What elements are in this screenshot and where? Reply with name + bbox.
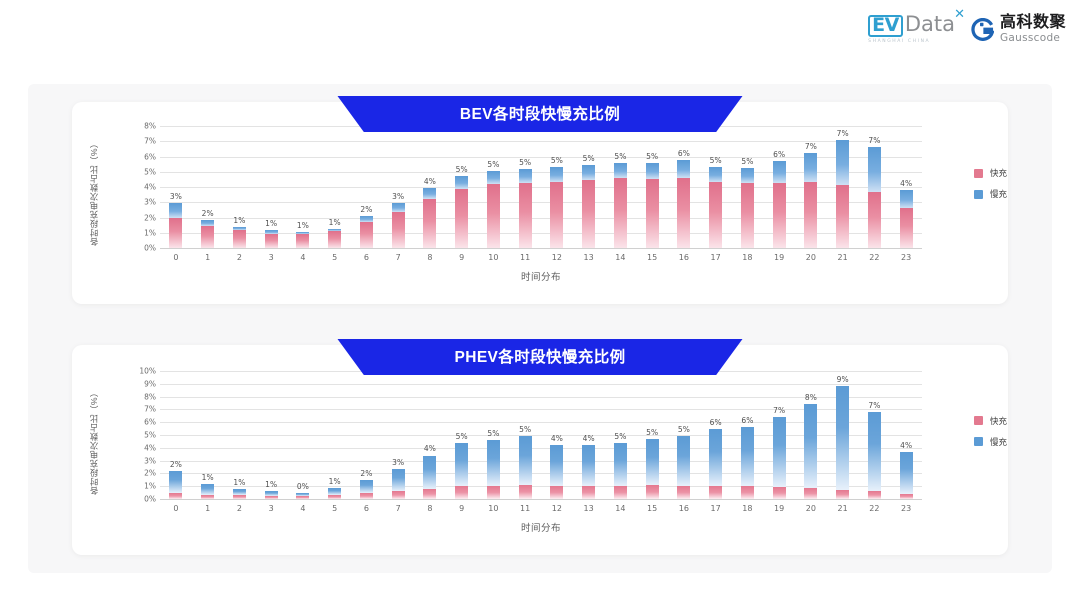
bar-segment-fast-charge[interactable] xyxy=(328,495,341,499)
legend-label-slow-charge: 慢充 xyxy=(990,436,1007,448)
bar-segment-fast-charge[interactable] xyxy=(201,495,214,499)
bar-value-label: 4% xyxy=(424,444,436,453)
bar-segment-slow-charge[interactable] xyxy=(550,167,563,181)
bar-column[interactable]: 4% xyxy=(573,371,605,499)
x-tick: 23 xyxy=(890,253,922,262)
bar-segment-slow-charge[interactable] xyxy=(360,480,373,493)
phev-plot-area: 各时段充电次数占比（%） 0%1%2%3%4%5%6%7%8%9%10%2%1%… xyxy=(72,345,1008,555)
y-tick: 5% xyxy=(144,167,156,176)
bar-segment-slow-charge[interactable] xyxy=(836,386,849,490)
y-tick: 6% xyxy=(144,152,156,161)
legend-label-fast-charge: 快充 xyxy=(990,167,1007,179)
x-tick: 11 xyxy=(509,504,541,513)
bar-stack[interactable] xyxy=(868,371,881,499)
x-tick: 0 xyxy=(160,504,192,513)
bar-value-label: 5% xyxy=(487,429,499,438)
bar-segment-slow-charge[interactable] xyxy=(392,469,405,491)
bar-value-label: 7% xyxy=(837,129,849,138)
legend-swatch-slow-charge xyxy=(974,437,983,446)
bar-segment-fast-charge[interactable] xyxy=(709,486,722,499)
bar-segment-fast-charge[interactable] xyxy=(868,192,881,248)
bar-stack[interactable] xyxy=(392,126,405,248)
bar-segment-slow-charge[interactable] xyxy=(582,165,595,180)
x-tick: 10 xyxy=(478,253,510,262)
x-tick: 0 xyxy=(160,253,192,262)
legend-item-slow-charge[interactable]: 慢充 xyxy=(974,436,1007,448)
bar-value-label: 2% xyxy=(360,469,372,478)
legend-item-fast-charge[interactable]: 快充 xyxy=(974,167,1007,179)
bev-plot-area: 各时段充电次数占比（%） 0%1%2%3%4%5%6%7%8%3%2%1%1%1… xyxy=(72,102,1008,304)
bar-value-label: 7% xyxy=(773,406,785,415)
gausscode-mark-icon xyxy=(971,18,994,41)
bar-column[interactable]: 5% xyxy=(478,371,510,499)
bar-value-label: 6% xyxy=(741,416,753,425)
bar-segment-fast-charge[interactable] xyxy=(804,488,817,499)
bar-stack[interactable] xyxy=(519,126,532,248)
bar-stack[interactable] xyxy=(487,126,500,248)
bar-stack[interactable] xyxy=(392,371,405,499)
bar-stack[interactable] xyxy=(677,126,690,248)
bar-value-label: 4% xyxy=(900,179,912,188)
bar-segment-fast-charge[interactable] xyxy=(169,218,182,249)
bar-value-label: 5% xyxy=(614,152,626,161)
bar-segment-fast-charge[interactable] xyxy=(519,183,532,248)
phev-bars: 2%1%1%1%0%1%2%3%4%5%5%5%4%4%5%5%5%6%6%7%… xyxy=(160,371,922,499)
bar-segment-fast-charge[interactable] xyxy=(677,486,690,499)
bar-column[interactable]: 1% xyxy=(224,371,256,499)
x-tick: 5 xyxy=(319,253,351,262)
bar-value-label: 1% xyxy=(265,480,277,489)
bar-stack[interactable] xyxy=(296,371,309,499)
bar-value-label: 4% xyxy=(424,177,436,186)
bev-bars: 3%2%1%1%1%1%2%3%4%5%5%5%5%5%5%5%6%5%5%6%… xyxy=(160,126,922,248)
bar-column[interactable]: 9% xyxy=(827,371,859,499)
bar-value-label: 1% xyxy=(202,473,214,482)
bar-segment-fast-charge[interactable] xyxy=(423,489,436,499)
bar-value-label: 5% xyxy=(456,432,468,441)
bar-column[interactable]: 5% xyxy=(732,126,764,248)
bar-segment-slow-charge[interactable] xyxy=(900,452,913,494)
evdata-cross-icon: ✕ xyxy=(954,7,965,22)
bar-segment-fast-charge[interactable] xyxy=(455,189,468,248)
bar-segment-fast-charge[interactable] xyxy=(233,230,246,248)
x-tick: 16 xyxy=(668,253,700,262)
y-tick: 3% xyxy=(144,198,156,207)
bar-segment-fast-charge[interactable] xyxy=(519,485,532,499)
phev-chart-block: PHEV各时段快慢充比例 各时段充电次数占比（%） 0%1%2%3%4%5%6%… xyxy=(28,327,1052,573)
bar-value-label: 0% xyxy=(297,482,309,491)
bar-stack[interactable] xyxy=(233,126,246,248)
x-tick: 20 xyxy=(795,504,827,513)
gausscode-name-en: Gausscode xyxy=(1000,33,1066,44)
bar-stack[interactable] xyxy=(741,126,754,248)
bar-column[interactable]: 8% xyxy=(795,371,827,499)
bar-segment-fast-charge[interactable] xyxy=(550,182,563,248)
bar-segment-fast-charge[interactable] xyxy=(201,226,214,248)
bar-value-label: 1% xyxy=(329,477,341,486)
legend-label-slow-charge: 慢充 xyxy=(990,188,1007,200)
x-tick: 22 xyxy=(859,253,891,262)
bar-stack[interactable] xyxy=(709,126,722,248)
y-tick: 0% xyxy=(144,244,156,253)
bar-segment-fast-charge[interactable] xyxy=(836,490,849,499)
bar-column[interactable]: 6% xyxy=(763,126,795,248)
legend-swatch-fast-charge xyxy=(974,169,983,178)
x-tick: 14 xyxy=(605,253,637,262)
bar-value-label: 2% xyxy=(202,209,214,218)
bar-segment-fast-charge[interactable] xyxy=(360,222,373,248)
bar-column[interactable]: 3% xyxy=(160,126,192,248)
bar-segment-slow-charge[interactable] xyxy=(646,163,659,178)
bar-segment-slow-charge[interactable] xyxy=(487,171,500,184)
x-axis-line xyxy=(160,248,922,249)
bar-column[interactable]: 4% xyxy=(414,371,446,499)
bar-value-label: 5% xyxy=(614,432,626,441)
bar-value-label: 9% xyxy=(837,375,849,384)
bar-value-label: 2% xyxy=(170,460,182,469)
bar-column[interactable]: 0% xyxy=(287,371,319,499)
bar-segment-slow-charge[interactable] xyxy=(455,443,468,486)
bev-y-axis-ticks: 0%1%2%3%4%5%6%7%8% xyxy=(126,126,156,248)
bar-stack[interactable] xyxy=(741,371,754,499)
bar-column[interactable]: 5% xyxy=(636,371,668,499)
bar-segment-slow-charge[interactable] xyxy=(804,153,817,182)
y-tick: 3% xyxy=(144,456,156,465)
y-tick: 7% xyxy=(144,405,156,414)
x-tick: 17 xyxy=(700,253,732,262)
bar-segment-slow-charge[interactable] xyxy=(550,445,563,486)
bar-stack[interactable] xyxy=(519,371,532,499)
bar-segment-slow-charge[interactable] xyxy=(614,443,627,487)
bar-segment-fast-charge[interactable] xyxy=(836,185,849,248)
phev-legend: 快充慢充 xyxy=(974,415,1007,448)
bar-segment-fast-charge[interactable] xyxy=(487,486,500,499)
bar-segment-slow-charge[interactable] xyxy=(582,445,595,487)
bar-segment-fast-charge[interactable] xyxy=(265,234,278,248)
phev-y-axis-ticks: 0%1%2%3%4%5%6%7%8%9%10% xyxy=(126,371,156,499)
bev-chart-card: BEV各时段快慢充比例 各时段充电次数占比（%） 0%1%2%3%4%5%6%7… xyxy=(72,102,1008,304)
bar-segment-slow-charge[interactable] xyxy=(519,436,532,485)
bar-column[interactable]: 4% xyxy=(890,126,922,248)
bar-segment-slow-charge[interactable] xyxy=(677,160,690,178)
phev-y-axis-label: 各时段充电次数占比（%） xyxy=(88,371,100,495)
bar-stack[interactable] xyxy=(360,126,373,248)
bar-column[interactable]: 5% xyxy=(478,126,510,248)
y-tick: 1% xyxy=(144,482,156,491)
phev-chart-title: PHEV各时段快慢充比例 xyxy=(454,345,625,367)
bar-column[interactable]: 1% xyxy=(319,126,351,248)
bar-segment-slow-charge[interactable] xyxy=(169,471,182,493)
bar-column[interactable]: 6% xyxy=(668,126,700,248)
bar-segment-fast-charge[interactable] xyxy=(614,486,627,499)
gausscode-logo: 高科数聚 Gausscode xyxy=(971,15,1066,44)
x-tick: 21 xyxy=(827,504,859,513)
bar-segment-fast-charge[interactable] xyxy=(646,485,659,499)
bar-stack[interactable] xyxy=(455,126,468,248)
bar-column[interactable]: 2% xyxy=(160,371,192,499)
bar-value-label: 1% xyxy=(329,218,341,227)
bar-column[interactable]: 1% xyxy=(255,371,287,499)
x-tick: 21 xyxy=(827,253,859,262)
bar-stack[interactable] xyxy=(614,126,627,248)
bar-column[interactable]: 5% xyxy=(605,371,637,499)
x-tick: 20 xyxy=(795,253,827,262)
bar-value-label: 7% xyxy=(805,142,817,151)
bar-segment-fast-charge[interactable] xyxy=(296,496,309,499)
bar-stack[interactable] xyxy=(836,126,849,248)
bar-value-label: 6% xyxy=(710,418,722,427)
bar-column[interactable]: 7% xyxy=(827,126,859,248)
bar-column[interactable]: 7% xyxy=(859,126,891,248)
bar-segment-slow-charge[interactable] xyxy=(804,404,817,488)
bar-segment-slow-charge[interactable] xyxy=(423,456,436,489)
bar-segment-slow-charge[interactable] xyxy=(868,147,881,192)
phev-chart-card: PHEV各时段快慢充比例 各时段充电次数占比（%） 0%1%2%3%4%5%6%… xyxy=(72,345,1008,555)
bar-segment-slow-charge[interactable] xyxy=(328,488,341,495)
x-tick: 6 xyxy=(351,253,383,262)
bev-y-axis-label: 各时段充电次数占比（%） xyxy=(88,126,100,246)
bar-stack[interactable] xyxy=(646,126,659,248)
bar-segment-slow-charge[interactable] xyxy=(836,140,849,185)
x-tick: 7 xyxy=(382,253,414,262)
y-tick: 0% xyxy=(144,495,156,504)
bar-column[interactable]: 5% xyxy=(573,126,605,248)
bar-stack[interactable] xyxy=(773,126,786,248)
bar-column[interactable]: 2% xyxy=(351,126,383,248)
y-tick: 2% xyxy=(144,469,156,478)
x-tick: 1 xyxy=(192,253,224,262)
bar-value-label: 7% xyxy=(868,136,880,145)
bar-value-label: 5% xyxy=(741,157,753,166)
x-tick: 4 xyxy=(287,504,319,513)
y-tick: 1% xyxy=(144,228,156,237)
bar-value-label: 3% xyxy=(392,458,404,467)
legend-swatch-slow-charge xyxy=(974,190,983,199)
bar-value-label: 1% xyxy=(297,221,309,230)
bar-segment-fast-charge[interactable] xyxy=(582,486,595,499)
bar-column[interactable]: 5% xyxy=(636,126,668,248)
bar-column[interactable]: 3% xyxy=(382,126,414,248)
bar-column[interactable]: 5% xyxy=(700,126,732,248)
bar-segment-fast-charge[interactable] xyxy=(773,183,786,248)
bar-column[interactable]: 6% xyxy=(700,371,732,499)
bar-segment-slow-charge[interactable] xyxy=(455,176,468,189)
bar-value-label: 2% xyxy=(360,205,372,214)
x-tick: 9 xyxy=(446,504,478,513)
bar-segment-fast-charge[interactable] xyxy=(296,234,309,248)
evdata-data-text: Data xyxy=(905,14,955,34)
y-tick: 9% xyxy=(144,379,156,388)
x-tick: 19 xyxy=(763,253,795,262)
bar-segment-slow-charge[interactable] xyxy=(741,427,754,486)
bar-stack[interactable] xyxy=(328,126,341,248)
bar-segment-slow-charge[interactable] xyxy=(423,188,436,199)
bar-segment-fast-charge[interactable] xyxy=(392,212,405,248)
bar-value-label: 4% xyxy=(551,434,563,443)
bar-stack[interactable] xyxy=(423,126,436,248)
header-logos: EV Data ✕ SHANGHAI CHINA 高科数聚 Gausscode xyxy=(868,14,1066,44)
x-tick: 9 xyxy=(446,253,478,262)
bar-segment-fast-charge[interactable] xyxy=(773,487,786,499)
bar-stack[interactable] xyxy=(360,371,373,499)
bar-segment-fast-charge[interactable] xyxy=(646,179,659,248)
bar-column[interactable]: 5% xyxy=(446,126,478,248)
x-tick: 16 xyxy=(668,504,700,513)
x-axis-line xyxy=(160,499,922,500)
y-tick: 8% xyxy=(144,122,156,131)
bar-value-label: 5% xyxy=(456,165,468,174)
bar-value-label: 5% xyxy=(583,154,595,163)
x-tick: 6 xyxy=(351,504,383,513)
legend-item-fast-charge[interactable]: 快充 xyxy=(974,415,1007,427)
bar-stack[interactable] xyxy=(201,126,214,248)
x-tick: 1 xyxy=(192,504,224,513)
bar-column[interactable]: 6% xyxy=(732,371,764,499)
y-tick: 10% xyxy=(139,367,156,376)
bar-segment-fast-charge[interactable] xyxy=(868,491,881,499)
legend-item-slow-charge[interactable]: 慢充 xyxy=(974,188,1007,200)
bar-segment-fast-charge[interactable] xyxy=(265,496,278,499)
x-tick: 2 xyxy=(224,253,256,262)
bar-value-label: 5% xyxy=(519,425,531,434)
bar-stack[interactable] xyxy=(900,371,913,499)
bar-segment-fast-charge[interactable] xyxy=(392,491,405,499)
bar-column[interactable]: 4% xyxy=(414,126,446,248)
bar-segment-fast-charge[interactable] xyxy=(455,486,468,499)
bar-column[interactable]: 5% xyxy=(509,126,541,248)
bar-stack[interactable] xyxy=(677,371,690,499)
bar-column[interactable]: 4% xyxy=(541,371,573,499)
bar-segment-fast-charge[interactable] xyxy=(550,486,563,499)
bar-segment-slow-charge[interactable] xyxy=(868,412,881,491)
bar-column[interactable]: 7% xyxy=(795,126,827,248)
bev-chart-title: BEV各时段快慢充比例 xyxy=(460,102,620,124)
bar-column[interactable]: 5% xyxy=(668,371,700,499)
bar-value-label: 8% xyxy=(805,393,817,402)
bar-segment-fast-charge[interactable] xyxy=(614,178,627,248)
x-tick: 17 xyxy=(700,504,732,513)
x-tick: 7 xyxy=(382,504,414,513)
bar-stack[interactable] xyxy=(169,126,182,248)
bar-value-label: 5% xyxy=(646,428,658,437)
bar-column[interactable]: 4% xyxy=(890,371,922,499)
bar-value-label: 1% xyxy=(233,216,245,225)
bar-segment-fast-charge[interactable] xyxy=(360,493,373,499)
bar-column[interactable]: 2% xyxy=(351,371,383,499)
bar-segment-slow-charge[interactable] xyxy=(773,161,786,183)
x-tick: 18 xyxy=(732,504,764,513)
bev-legend: 快充慢充 xyxy=(974,167,1007,200)
bar-segment-slow-charge[interactable] xyxy=(741,168,754,183)
bar-segment-fast-charge[interactable] xyxy=(900,208,913,248)
bar-segment-slow-charge[interactable] xyxy=(709,429,722,487)
bar-segment-fast-charge[interactable] xyxy=(233,495,246,499)
slide-page: EV Data ✕ SHANGHAI CHINA 高科数聚 Gausscode xyxy=(0,0,1080,608)
bar-segment-slow-charge[interactable] xyxy=(169,203,182,217)
bar-segment-fast-charge[interactable] xyxy=(582,180,595,248)
bar-column[interactable]: 7% xyxy=(859,371,891,499)
bar-segment-fast-charge[interactable] xyxy=(677,178,690,248)
bar-value-label: 1% xyxy=(233,478,245,487)
evdata-subtitle: SHANGHAI CHINA xyxy=(868,39,930,44)
bar-segment-slow-charge[interactable] xyxy=(201,484,214,495)
bar-segment-fast-charge[interactable] xyxy=(804,182,817,248)
bar-value-label: 7% xyxy=(868,401,880,410)
bar-column[interactable]: 5% xyxy=(541,126,573,248)
x-tick: 18 xyxy=(732,253,764,262)
bar-column[interactable]: 2% xyxy=(192,126,224,248)
bar-value-label: 5% xyxy=(646,152,658,161)
bar-segment-fast-charge[interactable] xyxy=(169,493,182,499)
bar-segment-fast-charge[interactable] xyxy=(900,494,913,499)
y-tick: 4% xyxy=(144,183,156,192)
bar-stack[interactable] xyxy=(709,371,722,499)
bar-column[interactable]: 3% xyxy=(382,371,414,499)
bar-segment-fast-charge[interactable] xyxy=(709,182,722,248)
bar-stack[interactable] xyxy=(582,126,595,248)
bar-segment-slow-charge[interactable] xyxy=(900,190,913,208)
bar-column[interactable]: 5% xyxy=(605,126,637,248)
bar-value-label: 4% xyxy=(583,434,595,443)
bar-stack[interactable] xyxy=(265,126,278,248)
bar-segment-slow-charge[interactable] xyxy=(392,203,405,212)
bar-segment-slow-charge[interactable] xyxy=(487,440,500,486)
bar-value-label: 1% xyxy=(265,219,277,228)
bar-column[interactable]: 1% xyxy=(287,126,319,248)
phev-x-axis-ticks: 01234567891011121314151617181920212223 xyxy=(160,504,922,513)
bar-segment-slow-charge[interactable] xyxy=(646,439,659,485)
x-tick: 11 xyxy=(509,253,541,262)
bar-segment-fast-charge[interactable] xyxy=(487,184,500,248)
bar-segment-slow-charge[interactable] xyxy=(677,436,690,485)
x-tick: 19 xyxy=(763,504,795,513)
bar-column[interactable]: 1% xyxy=(255,126,287,248)
x-tick: 12 xyxy=(541,253,573,262)
bar-segment-slow-charge[interactable] xyxy=(519,169,532,183)
bar-segment-fast-charge[interactable] xyxy=(741,486,754,499)
bar-stack[interactable] xyxy=(804,371,817,499)
x-tick: 3 xyxy=(255,253,287,262)
x-tick: 10 xyxy=(478,504,510,513)
bar-stack[interactable] xyxy=(423,371,436,499)
y-tick: 5% xyxy=(144,431,156,440)
bar-segment-slow-charge[interactable] xyxy=(709,167,722,182)
bar-column[interactable]: 1% xyxy=(319,371,351,499)
evdata-ev-mark: EV xyxy=(868,15,903,37)
x-tick: 8 xyxy=(414,253,446,262)
bar-column[interactable]: 5% xyxy=(446,371,478,499)
bar-column[interactable]: 7% xyxy=(763,371,795,499)
x-tick: 15 xyxy=(636,504,668,513)
bar-stack[interactable] xyxy=(773,371,786,499)
x-tick: 3 xyxy=(255,504,287,513)
bar-value-label: 6% xyxy=(773,150,785,159)
bar-segment-fast-charge[interactable] xyxy=(328,231,341,248)
bar-segment-slow-charge[interactable] xyxy=(773,417,786,487)
bar-column[interactable]: 1% xyxy=(224,126,256,248)
bar-column[interactable]: 1% xyxy=(192,371,224,499)
bar-segment-fast-charge[interactable] xyxy=(423,199,436,248)
x-tick: 14 xyxy=(605,504,637,513)
bar-value-label: 6% xyxy=(678,149,690,158)
bar-column[interactable]: 5% xyxy=(509,371,541,499)
bar-stack[interactable] xyxy=(169,371,182,499)
bar-stack[interactable] xyxy=(836,371,849,499)
bar-segment-slow-charge[interactable] xyxy=(614,163,627,178)
content-panel: BEV各时段快慢充比例 各时段充电次数占比（%） 0%1%2%3%4%5%6%7… xyxy=(28,84,1052,573)
bar-segment-fast-charge[interactable] xyxy=(741,183,754,248)
bar-stack[interactable] xyxy=(550,126,563,248)
